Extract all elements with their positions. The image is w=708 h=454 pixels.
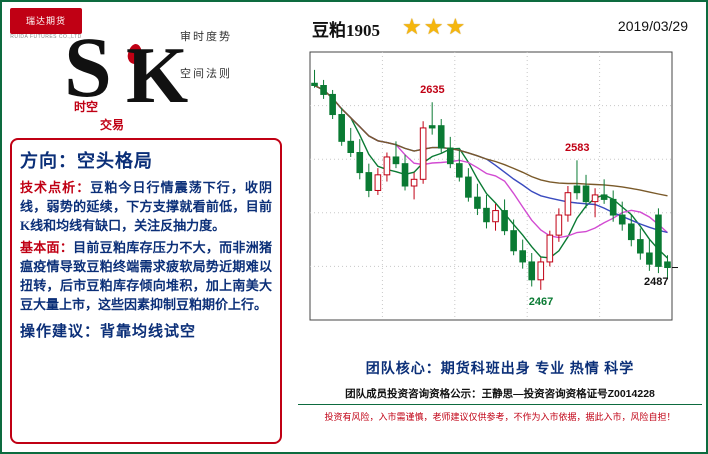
fundamental-analysis-paragraph: 基本面：目前豆粕库存压力不大，而非洲猪瘟疫情导致豆粕终端需求疲软局势近期难以扭转…	[20, 238, 272, 314]
disclaimer-text: 投资有风险，入市需谨慎，老师建议仅供参考，不作为入市依据，据此入市，风险自担！	[300, 410, 700, 423]
left-panel: 瑞达期货 RUIDA FUTURES CO.,LTD S K 时空 交易 审时度…	[2, 2, 292, 452]
divider-line	[298, 404, 702, 405]
monogram-small-text-2: 交易	[100, 116, 124, 133]
team-core-text: 团队核心：期货科班出身 专业 热情 科学	[300, 358, 700, 378]
candlestick-plot: 2635 2583 2467 2487	[302, 46, 700, 346]
annotation-swing-low: 2467	[529, 296, 553, 308]
annotation-swing-high: 2635	[420, 84, 444, 96]
chart-panel: 豆粕1905 ★★★ 2019/03/29 2635 2583 2467 248…	[294, 6, 706, 452]
slogan-line-1: 审时度势	[180, 30, 266, 45]
candlestick-svg	[302, 46, 700, 346]
slogan-line-2: 空间法则	[180, 67, 266, 82]
trading-advice: 操作建议：背靠均线试空	[20, 320, 272, 341]
direction-row: 方向：空头格局	[20, 146, 272, 176]
technical-analysis-title: 技术点析：	[20, 180, 90, 195]
fundamental-analysis-title: 基本面：	[20, 240, 73, 255]
chart-date: 2019/03/29	[618, 18, 688, 34]
analysis-card: 方向：空头格局 技术点析：豆粕今日行情震荡下行，收阴线，弱势的延续，下方支撑就看…	[10, 138, 282, 444]
slogan-block: 审时度势 空间法则	[180, 30, 266, 82]
sk-monogram: S K 时空 交易	[62, 20, 192, 130]
rating-stars: ★★★	[402, 14, 467, 40]
chart-header: 豆粕1905 ★★★ 2019/03/29	[294, 6, 706, 48]
certificate-text: 团队成员投资咨询资格公示：王静思—投资咨询资格证号Z0014228	[300, 386, 700, 401]
contract-name: 豆粕1905	[312, 16, 380, 41]
technical-analysis-paragraph: 技术点析：豆粕今日行情震荡下行，收阴线，弱势的延续，下方支撑就看前低，目前K线和…	[20, 178, 272, 235]
poster-root: 瑞达期货 RUIDA FUTURES CO.,LTD S K 时空 交易 审时度…	[0, 0, 708, 454]
monogram-small-text-1: 时空	[74, 98, 98, 115]
annotation-last-price: 2487	[644, 276, 668, 288]
annotation-resistance: 2583	[565, 142, 589, 154]
monogram-letter-k: K	[126, 36, 188, 116]
direction-label: 方向：	[20, 151, 77, 171]
direction-value: 空头格局	[77, 151, 153, 171]
